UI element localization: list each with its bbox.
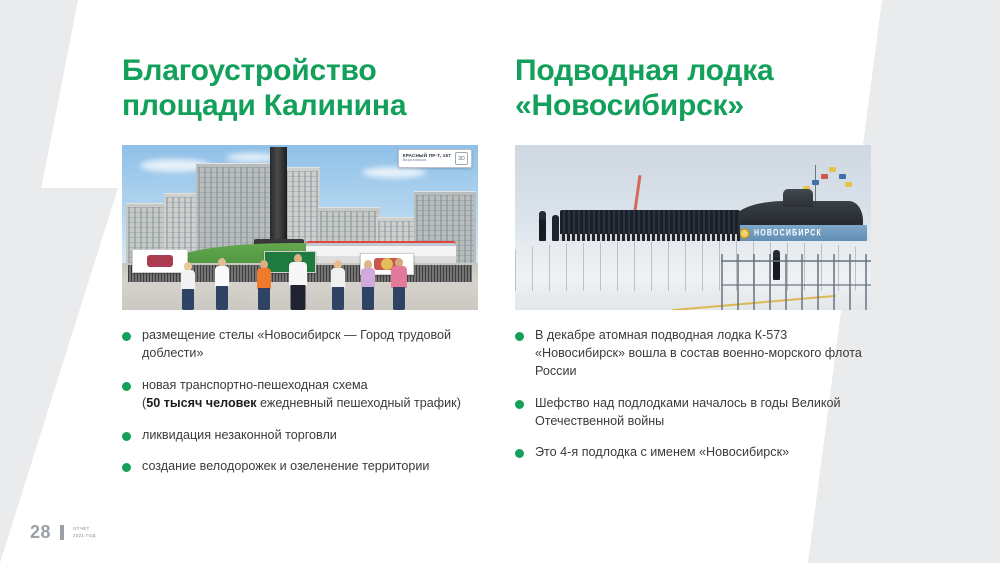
person-figure xyxy=(330,260,345,310)
slide-footer: 28 ОТЧЁТ 2021 ГОД xyxy=(30,522,96,543)
person-figure xyxy=(360,260,375,310)
person-figure xyxy=(214,258,229,310)
badge-3d-icon: 3D xyxy=(455,152,468,165)
address-sub: Визуализация xyxy=(403,159,451,163)
footer-divider xyxy=(60,525,64,540)
list-item: Шефство над подлодками началось в годы В… xyxy=(515,395,877,431)
list-item-text: новая транспортно-пешеходная схема (50 т… xyxy=(142,377,461,413)
list-item: ликвидация незаконной торговли xyxy=(122,427,492,445)
bullet-dot-icon xyxy=(122,332,131,341)
list-item: В декабре атомная подводная лодка К-573 … xyxy=(515,327,877,381)
bullet-dot-icon xyxy=(122,463,131,472)
list-item: размещение стелы «Новосибирск — Город тр… xyxy=(122,327,492,363)
list-item: Это 4-я подлодка с именем «Новосибирск» xyxy=(515,444,877,462)
banner-text: НОВОСИБИРСК xyxy=(754,229,822,238)
address-callout: КРАСНЫЙ ПР-Т, 157 Визуализация 3D xyxy=(398,149,472,168)
list-item-text: размещение стелы «Новосибирск — Город тр… xyxy=(142,327,492,363)
page-title-right: Подводная лодка «Новосибирск» xyxy=(515,53,895,124)
page-title-left: Благоустройство площади Калинина xyxy=(122,53,502,124)
bullet-dot-icon xyxy=(515,332,524,341)
bullet-dot-icon xyxy=(515,400,524,409)
dock-railing xyxy=(721,254,871,310)
bullet-dot-icon xyxy=(515,449,524,458)
list-item-text: Это 4-я подлодка с именем «Новосибирск» xyxy=(535,444,789,462)
person-figure xyxy=(256,260,271,310)
bullet-dot-icon xyxy=(122,382,131,391)
list-item: создание велодорожек и озеленение террит… xyxy=(122,458,492,476)
list-item: новая транспортно-пешеходная схема (50 т… xyxy=(122,377,492,413)
person-figure xyxy=(288,254,307,310)
decor-diagonal-top-left xyxy=(0,0,130,563)
person-figure xyxy=(180,262,195,310)
officer-figure xyxy=(539,211,546,241)
presentation-slide: Благоустройство площади Калинина xyxy=(0,0,1000,563)
bullet-list-left: размещение стелы «Новосибирск — Город тр… xyxy=(122,327,492,490)
footer-meta-text: ОТЧЁТ 2021 ГОД xyxy=(73,526,96,539)
list-item-text: создание велодорожек и озеленение террит… xyxy=(142,458,429,476)
page-number: 28 xyxy=(30,522,51,543)
sailor-formation xyxy=(560,210,740,242)
submarine-name-banner: НОВОСИБИРСК xyxy=(735,225,867,242)
list-item-text: Шефство над подлодками началось в годы В… xyxy=(535,395,877,431)
submarine-sail xyxy=(783,189,813,207)
person-figure xyxy=(390,258,407,310)
list-item-text: В декабре атомная подводная лодка К-573 … xyxy=(535,327,877,381)
photo-submarine-ceremony: НОВОСИБИРСК xyxy=(515,145,871,310)
naval-emblem-icon xyxy=(739,228,750,239)
photo-kalinin-square: КРАСНЫЙ ПР-Т, 157 Визуализация 3D xyxy=(122,145,478,310)
city-emblem-icon xyxy=(147,255,173,267)
bullet-dot-icon xyxy=(122,432,131,441)
cloud-shape xyxy=(362,167,426,178)
flag-bearer-figure xyxy=(552,215,559,241)
bullet-list-right: В декабре атомная подводная лодка К-573 … xyxy=(515,327,877,476)
list-item-text: ликвидация незаконной торговли xyxy=(142,427,337,445)
